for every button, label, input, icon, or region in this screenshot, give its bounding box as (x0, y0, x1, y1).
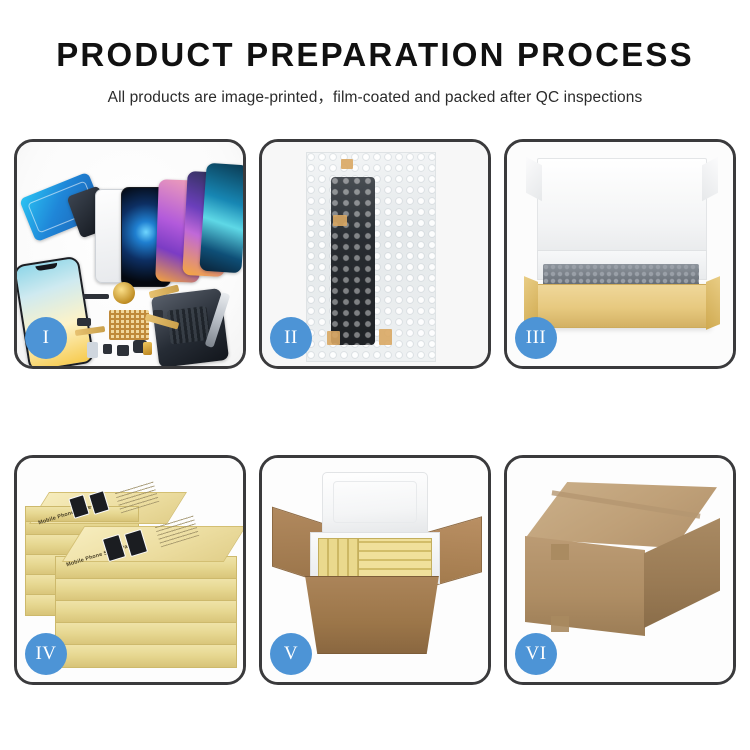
bubble-wrap-bag (306, 152, 436, 362)
process-step-panel-6[interactable]: VI (504, 455, 736, 685)
yellow-boxes-row-2 (358, 538, 432, 578)
logic-board-part (109, 310, 149, 340)
sim-tray-part (87, 342, 98, 358)
carton-tape-upper (551, 544, 569, 560)
carton-tape-lower (551, 616, 569, 632)
bag-tape-mid (333, 215, 347, 226)
step-badge-6: VI (515, 633, 557, 675)
page-header: PRODUCT PREPARATION PROCESS All products… (0, 0, 750, 107)
small-chip-b (117, 345, 129, 356)
bag-tape-bottom-right (379, 329, 392, 345)
sim-card-part (143, 342, 152, 355)
process-step-panel-5[interactable]: V (259, 455, 491, 685)
step-badge-3: III (515, 317, 557, 359)
page-subtitle: All products are image-printed，film-coat… (0, 85, 750, 107)
step-badge-2: II (270, 317, 312, 359)
vibration-motor-part (113, 282, 135, 304)
process-steps-grid: I II III (14, 139, 736, 685)
phone-teal-wave (199, 163, 246, 274)
stacked-box-r2 (55, 578, 237, 602)
outer-carton-open (296, 576, 448, 654)
small-chip-a (103, 344, 112, 354)
small-chip-c (77, 318, 91, 326)
step-badge-4: IV (25, 633, 67, 675)
earpiece-mesh-part (83, 294, 109, 299)
page-title: PRODUCT PREPARATION PROCESS (0, 38, 750, 73)
process-step-panel-2[interactable]: II (259, 139, 491, 369)
foam-box-lid (322, 472, 428, 536)
process-step-panel-4[interactable]: Mobile Phone Spare Parts Mobile Phone Sp… (14, 455, 246, 685)
step-badge-5: V (270, 633, 312, 675)
stacked-box-r4 (55, 622, 237, 646)
step-badge-1: I (25, 317, 67, 359)
stacked-box-r5 (55, 644, 237, 668)
process-step-panel-3[interactable]: III (504, 139, 736, 369)
carton-front-face (525, 536, 645, 636)
wrapped-screen-part (331, 177, 375, 345)
stacked-box-r3 (55, 600, 237, 624)
bag-tape-bottom-left (327, 331, 340, 345)
yellow-box-base (533, 284, 711, 328)
process-step-panel-1[interactable]: I (14, 139, 246, 369)
bag-tape-top (341, 159, 353, 169)
